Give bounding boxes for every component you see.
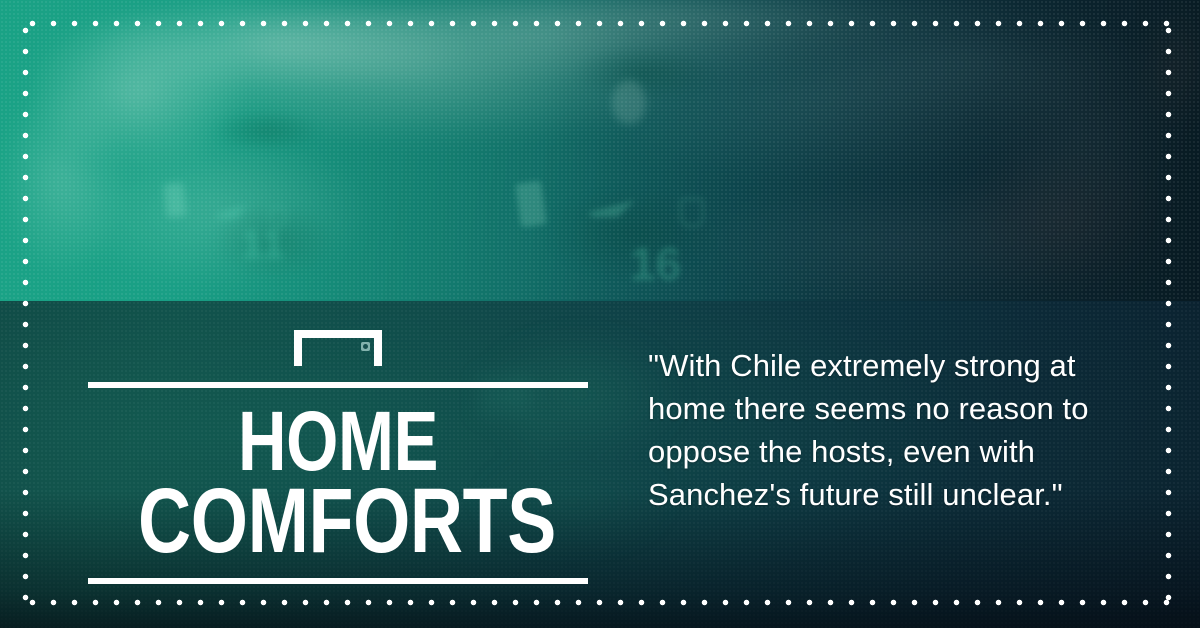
page-title: HOME COMFORTS (138, 398, 538, 572)
headline-rule-bottom (88, 578, 588, 584)
goal-post-right (374, 330, 382, 366)
halftone-dot-texture (0, 0, 1200, 301)
goal-logo-badge-icon (361, 342, 370, 351)
headline-line-1: HOME (138, 404, 538, 480)
headline-block: HOME COMFORTS (88, 330, 588, 584)
headline-rule-top (88, 382, 588, 388)
social-graphic-card: 11 16 16 HOME COMF (0, 0, 1200, 628)
goal-post-icon (294, 330, 382, 366)
pull-quote: "With Chile extremely strong at home the… (648, 344, 1096, 516)
headline-line-2: COMFORTS (138, 480, 538, 563)
hero-photo: 11 16 (0, 0, 1200, 301)
goal-crossbar (294, 330, 382, 338)
goal-post-left (294, 330, 302, 366)
